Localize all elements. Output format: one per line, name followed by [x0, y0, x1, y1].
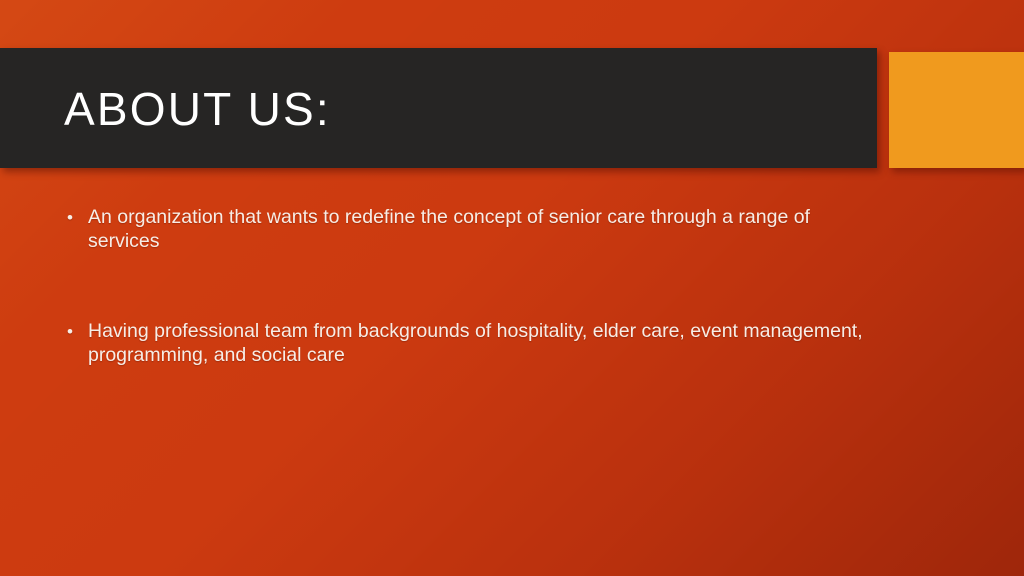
presentation-slide: ABOUT US: • An organization that wants t…: [0, 0, 1024, 576]
list-item: • An organization that wants to redefine…: [60, 206, 880, 253]
title-banner: ABOUT US:: [0, 48, 877, 168]
bullet-point-icon: •: [60, 320, 88, 344]
bullet-text: An organization that wants to redefine t…: [88, 206, 878, 253]
bullet-point-icon: •: [60, 206, 88, 230]
list-item: • Having professional team from backgrou…: [60, 320, 880, 367]
bullet-text: Having professional team from background…: [88, 320, 878, 367]
amber-accent-block: [889, 52, 1024, 168]
slide-body: • An organization that wants to redefine…: [60, 206, 880, 367]
page-title: ABOUT US:: [0, 86, 331, 132]
